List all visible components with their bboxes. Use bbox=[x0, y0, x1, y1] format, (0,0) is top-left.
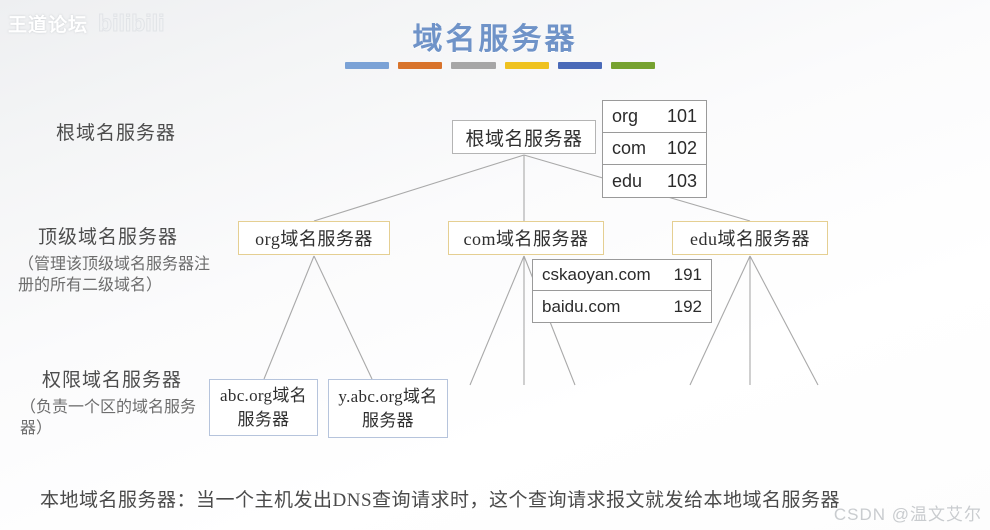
rule-dash-3 bbox=[451, 62, 495, 69]
row-label-authoritative-note: （负责一个区的域名服务器） bbox=[20, 397, 220, 439]
slide-canvas: 王道论坛 bilibili 域名服务器 bbox=[0, 0, 990, 530]
rule-dash-1 bbox=[345, 62, 389, 69]
record-name: edu bbox=[612, 171, 667, 192]
record-value: 103 bbox=[667, 171, 697, 192]
record-value: 102 bbox=[667, 138, 697, 159]
record-name: org bbox=[612, 106, 667, 127]
row-label-tld-text: 顶级域名服务器 bbox=[38, 222, 223, 249]
node-root-dns-server: 根域名服务器 bbox=[452, 120, 596, 154]
rule-dash-5 bbox=[558, 62, 602, 69]
table-row: org 101 bbox=[603, 101, 706, 133]
record-name: baidu.com bbox=[542, 297, 674, 317]
node-authoritative-abc-org: abc.org域名服务器 bbox=[209, 379, 318, 436]
node-tld-com: com域名服务器 bbox=[448, 221, 604, 255]
table-row: baidu.com 192 bbox=[533, 291, 711, 322]
csdn-watermark: CSDN @温文艾尔 bbox=[834, 500, 982, 525]
table-row: com 102 bbox=[603, 133, 706, 165]
row-label-authoritative-text: 权限域名服务器 bbox=[42, 365, 220, 392]
rule-dash-6 bbox=[611, 62, 655, 69]
node-authoritative-y-abc-org: y.abc.org域名服务器 bbox=[328, 379, 448, 438]
bottom-caption: 本地域名服务器：当一个主机发出DNS查询请求时，这个查询请求报文就发给本地域名服… bbox=[40, 485, 940, 512]
row-label-tld-note: （管理该顶级域名服务器注册的所有二级域名） bbox=[18, 254, 223, 296]
row-label-authoritative: 权限域名服务器 （负责一个区的域名服务器） bbox=[20, 365, 220, 439]
rule-dash-2 bbox=[398, 62, 442, 69]
node-tld-edu: edu域名服务器 bbox=[672, 221, 828, 255]
table-row: edu 103 bbox=[603, 165, 706, 197]
record-value: 192 bbox=[674, 297, 702, 317]
rule-dash-4 bbox=[505, 62, 549, 69]
row-label-tld: 顶级域名服务器 （管理该顶级域名服务器注册的所有二级域名） bbox=[18, 222, 223, 296]
com-record-table: cskaoyan.com 191 baidu.com 192 bbox=[532, 259, 712, 323]
record-value: 191 bbox=[674, 265, 702, 285]
edge-edu-child-3 bbox=[750, 256, 818, 385]
page-title: 域名服务器 bbox=[0, 14, 990, 58]
node-tld-org: org域名服务器 bbox=[238, 221, 390, 255]
edge-org-yabc bbox=[314, 256, 372, 379]
edge-com-child-1 bbox=[470, 256, 524, 385]
edge-org-abc bbox=[264, 256, 314, 379]
table-row: cskaoyan.com 191 bbox=[533, 260, 711, 291]
row-label-root-text: 根域名服务器 bbox=[56, 118, 176, 145]
edge-root-org bbox=[314, 155, 524, 221]
row-label-root: 根域名服务器 bbox=[50, 118, 176, 145]
title-underline-rule bbox=[345, 62, 655, 69]
record-name: com bbox=[612, 138, 667, 159]
record-value: 101 bbox=[667, 106, 697, 127]
root-record-table: org 101 com 102 edu 103 bbox=[602, 100, 707, 198]
record-name: cskaoyan.com bbox=[542, 265, 674, 285]
